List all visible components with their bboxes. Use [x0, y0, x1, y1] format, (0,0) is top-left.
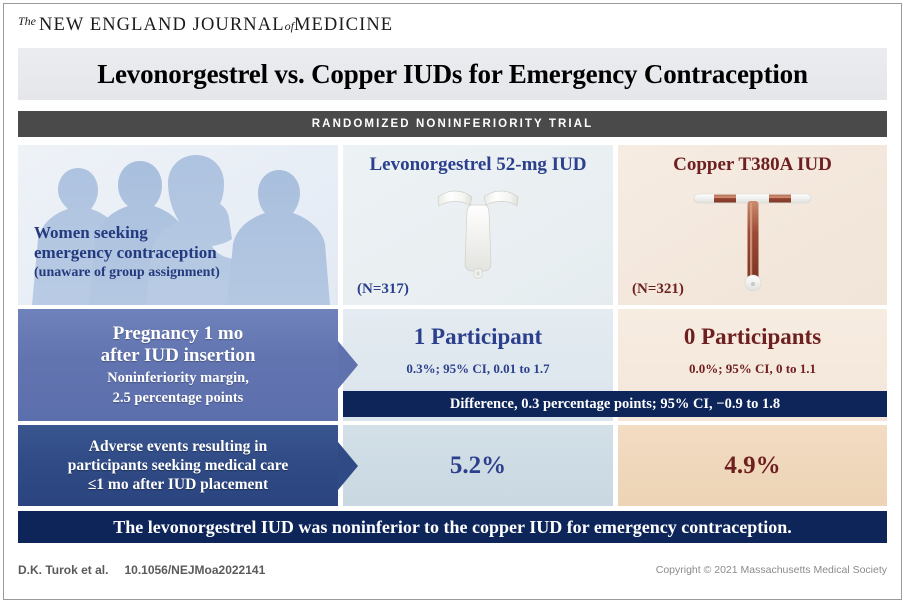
population-caption: Women seeking emergency contraception (u…: [34, 223, 220, 282]
page-title: Levonorgestrel vs. Copper IUDs for Emerg…: [97, 59, 808, 90]
difference-bar: Difference, 0.3 percentage points; 95% C…: [343, 391, 887, 417]
nejm-masthead: The NEW ENGLAND JOURNALofMEDICINE: [18, 12, 393, 38]
primary-outcome-label: Pregnancy 1 mo after IUD insertion Nonin…: [18, 309, 338, 421]
conclusion-text: The levonorgestrel IUD was noninferior t…: [113, 517, 792, 538]
masthead-name-part1: NEW ENGLAND JOURNAL: [39, 15, 285, 35]
study-arms-row: Women seeking emergency contraception (u…: [18, 145, 887, 305]
primary-value-levonorgestrel: 1 Participant: [343, 324, 613, 350]
chevron-right-icon: [338, 341, 360, 389]
title-bar: Levonorgestrel vs. Copper IUDs for Emerg…: [18, 48, 887, 100]
primary-outcome-margin2: 2.5 percentage points: [113, 390, 244, 407]
masthead-the: The: [18, 14, 36, 29]
adverse-result-levonorgestrel: 5.2%: [343, 425, 613, 506]
masthead-title: NEW ENGLAND JOURNALofMEDICINE: [39, 15, 393, 36]
chevron-right-icon-2: [338, 442, 360, 490]
population-line2: emergency contraception: [34, 243, 220, 263]
primary-outcome-margin1: Noninferiority margin,: [107, 370, 249, 387]
adverse-result-copper: 4.9%: [618, 425, 887, 506]
primary-outcome-line2: after IUD insertion: [101, 345, 256, 367]
footer-doi[interactable]: 10.1056/NEJMoa2022141: [124, 563, 265, 577]
primary-value-copper: 0 Participants: [618, 324, 887, 350]
adverse-line3: ≤1 mo after IUD placement: [68, 475, 289, 494]
adverse-events-row: Adverse events resulting in participants…: [18, 425, 887, 506]
primary-outcome-row: Pregnancy 1 mo after IUD insertion Nonin…: [18, 309, 887, 421]
primary-ci-levonorgestrel: 0.3%; 95% CI, 0.01 to 1.7: [343, 361, 613, 377]
adverse-events-label-text: Adverse events resulting in participants…: [68, 437, 289, 494]
footer: D.K. Turok et al.10.1056/NEJMoa2022141 C…: [18, 563, 887, 583]
adverse-value-copper: 4.9%: [724, 452, 780, 480]
footer-copyright: Copyright © 2021 Massachusetts Medical S…: [656, 564, 887, 576]
adverse-events-label: Adverse events resulting in participants…: [18, 425, 338, 506]
copper-iud-icon: [618, 145, 887, 305]
subtitle-bar: RANDOMIZED NONINFERIORITY TRIAL: [18, 111, 887, 137]
conclusion-bar: The levonorgestrel IUD was noninferior t…: [18, 511, 887, 543]
population-line1: Women seeking: [34, 223, 220, 243]
adverse-line2: participants seeking medical care: [68, 456, 289, 475]
arm-panel-levonorgestrel: Levonorgestrel 52-mg IUD: [343, 145, 613, 305]
primary-ci-copper: 0.0%; 95% CI, 0 to 1.1: [618, 361, 887, 377]
graphical-abstract: The NEW ENGLAND JOURNALofMEDICINE Levono…: [0, 0, 905, 603]
population-panel: Women seeking emergency contraception (u…: [18, 145, 338, 305]
levonorgestrel-iud-icon: [343, 145, 613, 305]
footer-authors: D.K. Turok et al.: [18, 563, 108, 577]
study-design-label: RANDOMIZED NONINFERIORITY TRIAL: [312, 118, 593, 130]
adverse-line1: Adverse events resulting in: [68, 437, 289, 456]
difference-text: Difference, 0.3 percentage points; 95% C…: [450, 396, 780, 413]
masthead-of: of: [285, 19, 294, 33]
primary-outcome-line1: Pregnancy 1 mo: [113, 323, 244, 345]
masthead-name-part2: MEDICINE: [294, 15, 393, 35]
adverse-value-levonorgestrel: 5.2%: [450, 452, 506, 480]
arm-panel-copper: Copper T380A IUD: [618, 145, 887, 305]
population-line3: (unaware of group assignment): [34, 263, 220, 282]
footer-citation: D.K. Turok et al.10.1056/NEJMoa2022141: [18, 563, 265, 577]
